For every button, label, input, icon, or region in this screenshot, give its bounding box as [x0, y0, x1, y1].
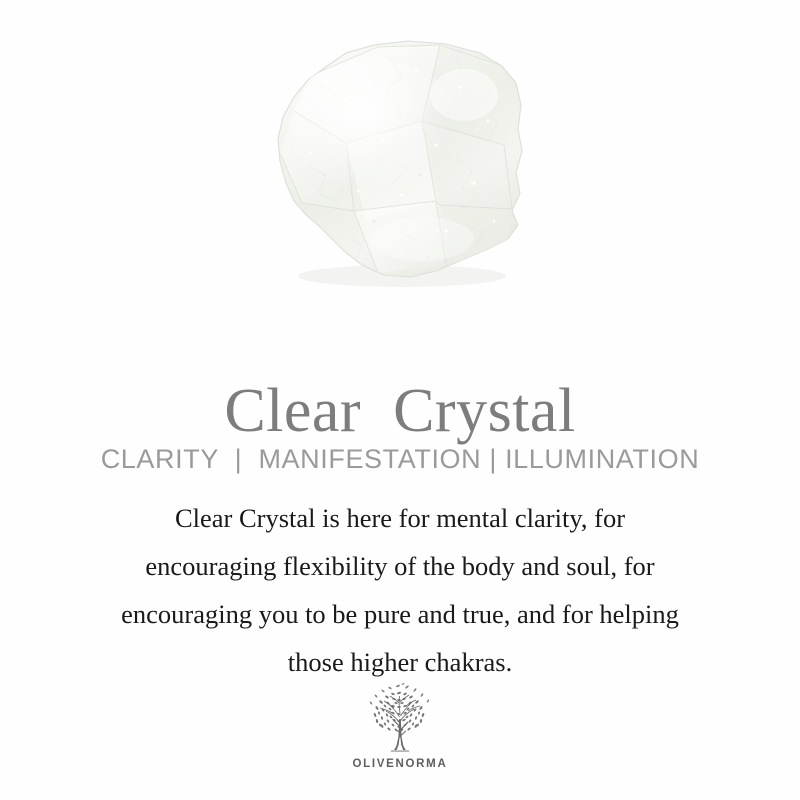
- product-description: Clear Crystal is here for mental clarity…: [40, 494, 760, 686]
- description-line: Clear Crystal is here for mental clarity…: [40, 494, 760, 542]
- description-line: encouraging flexibility of the body and …: [40, 542, 760, 590]
- product-title: Clear Crystal: [0, 372, 800, 450]
- clear-crystal-image: [250, 25, 550, 295]
- description-line: encouraging you to be pure and true, and…: [40, 590, 760, 638]
- product-info-card: Clear Crystal CLARITY | MANIFESTATION | …: [0, 0, 800, 800]
- olive-tree-icon: [358, 683, 442, 755]
- brand-logo: OLIVENORMA: [0, 683, 800, 770]
- description-line: those higher chakras.: [40, 638, 760, 686]
- product-image-container: [0, 0, 800, 320]
- product-keywords: CLARITY | MANIFESTATION | ILLUMINATION: [0, 440, 800, 478]
- brand-name: OLIVENORMA: [353, 758, 448, 770]
